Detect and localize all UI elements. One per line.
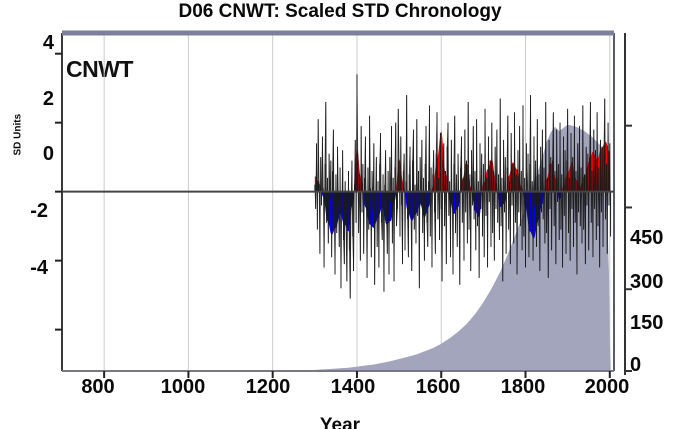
plot-canvas xyxy=(0,0,680,420)
chart-figure: D06 CNWT: Scaled STD Chronology SD Units… xyxy=(0,0,680,420)
